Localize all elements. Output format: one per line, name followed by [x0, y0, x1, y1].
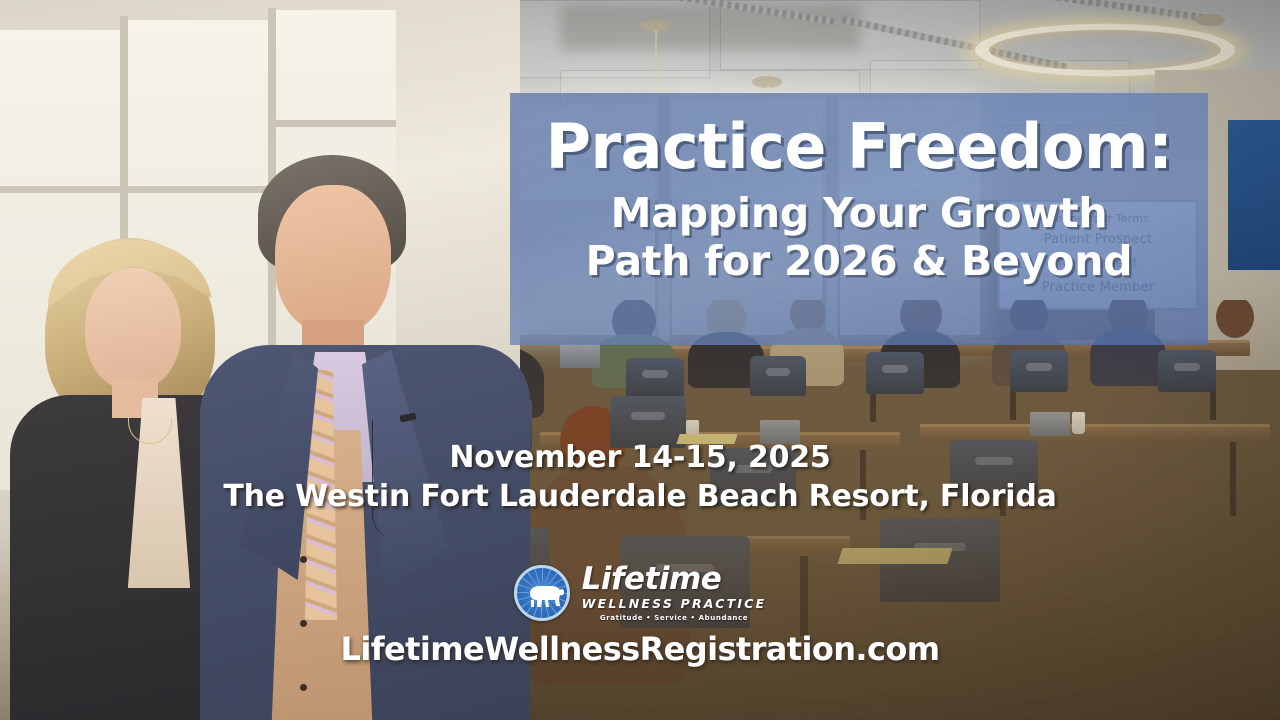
event-promo-poster: Define Your Terms Patient Prospect New P…: [0, 0, 1280, 720]
brand-tagline: Gratitude • Service • Abundance: [582, 615, 767, 622]
event-venue: The Westin Fort Lauderdale Beach Resort,…: [0, 479, 1280, 514]
bison-icon: [524, 581, 566, 611]
event-date: November 14-15, 2025: [0, 440, 1280, 475]
wall-panel: [1228, 120, 1280, 270]
event-title-line-1: Practice Freedom:: [546, 115, 1173, 178]
brand-wordmark: Lifetime WELLNESS PRACTICE Gratitude • S…: [582, 564, 767, 622]
event-details: November 14-15, 2025 The Westin Fort Lau…: [0, 440, 1280, 514]
ring-pendant-light: [975, 24, 1235, 77]
brand-name: Lifetime: [582, 564, 767, 595]
registration-url[interactable]: LifetimeWellnessRegistration.com: [0, 630, 1280, 668]
presenter-man-face: [275, 185, 391, 333]
brand-logo: Lifetime WELLNESS PRACTICE Gratitude • S…: [0, 564, 1280, 622]
title-banner: Practice Freedom: Mapping Your Growth Pa…: [510, 93, 1208, 345]
presenter-woman-face: [85, 268, 181, 390]
brand-subtitle: WELLNESS PRACTICE: [582, 598, 767, 611]
bison-emblem-icon: [514, 565, 570, 621]
event-title-line-2: Mapping Your Growth: [586, 190, 1133, 238]
event-title-line-3: Path for 2026 & Beyond: [586, 238, 1133, 286]
light-mount: [1195, 14, 1225, 26]
